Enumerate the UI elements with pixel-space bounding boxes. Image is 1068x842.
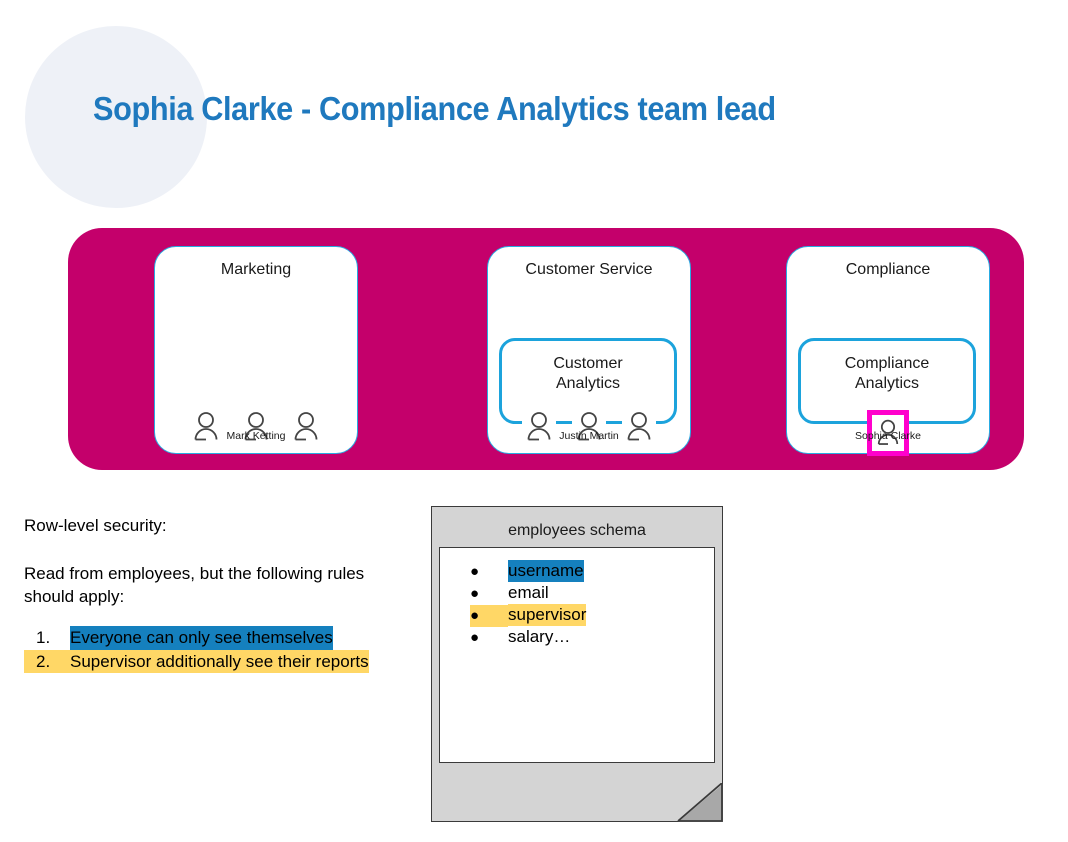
analytics-team-label: Customer Analytics bbox=[502, 354, 674, 394]
list-item: ● email bbox=[470, 582, 586, 604]
page-fold-edge-icon bbox=[677, 783, 723, 822]
employees-schema-document[interactable]: employees schema ● username ● email ● su… bbox=[431, 506, 723, 822]
department-card-compliance[interactable]: Compliance Compliance Analytics Sophia C… bbox=[786, 246, 990, 454]
schema-field-name: username bbox=[508, 560, 584, 582]
department-title: Marketing bbox=[155, 261, 357, 279]
bullet-dot-icon: ● bbox=[470, 583, 508, 605]
schema-field-name: supervisor bbox=[508, 604, 586, 626]
schema-field-name: email bbox=[508, 582, 549, 604]
department-owner-label: Mark Ketting bbox=[155, 430, 357, 442]
schema-field-name: salary… bbox=[508, 626, 570, 648]
bullet-dot-icon: ● bbox=[470, 561, 508, 583]
rule-text: Everyone can only see themselves bbox=[70, 626, 333, 650]
analytics-team-label-line2: Analytics bbox=[855, 375, 919, 392]
department-card-marketing[interactable]: Marketing bbox=[154, 246, 358, 454]
list-item: ● supervisor bbox=[470, 604, 586, 626]
department-owner-label: Justin Martin bbox=[488, 430, 690, 442]
rule-number: 2. bbox=[24, 650, 70, 674]
department-card-customer-service[interactable]: Customer Service Customer Analytics bbox=[487, 246, 691, 454]
analytics-team-label: Compliance Analytics bbox=[801, 354, 973, 394]
page-title: Sophia Clarke - Compliance Analytics tea… bbox=[93, 90, 776, 128]
analytics-team-label-line2: Analytics bbox=[556, 375, 620, 392]
department-owner-label: Sophia Clarke bbox=[787, 430, 989, 442]
department-title: Compliance bbox=[787, 261, 989, 279]
analytics-team-label-line1: Compliance bbox=[845, 355, 929, 372]
rule-text: Supervisor additionally see their report… bbox=[70, 650, 369, 674]
list-item: ● username bbox=[470, 560, 586, 582]
schema-field-list: ● username ● email ● supervisor ● salary… bbox=[470, 560, 586, 648]
row-level-security-intro: Read from employees, but the following r… bbox=[24, 562, 376, 608]
row-level-security-heading: Row-level security: bbox=[24, 516, 167, 536]
list-item: 1. Everyone can only see themselves bbox=[24, 626, 394, 650]
team-connector-line bbox=[489, 400, 689, 416]
bullet-dot-icon: ● bbox=[470, 605, 508, 627]
org-structure-panel: Marketing bbox=[68, 228, 1024, 470]
schema-title: employees schema bbox=[431, 522, 723, 540]
rule-number: 1. bbox=[24, 626, 70, 650]
row-level-security-rules-list: 1. Everyone can only see themselves 2. S… bbox=[24, 626, 394, 673]
bullet-dot-icon: ● bbox=[470, 627, 508, 649]
department-title: Customer Service bbox=[488, 261, 690, 279]
schema-field-panel: ● username ● email ● supervisor ● salary… bbox=[439, 547, 715, 763]
list-item: ● salary… bbox=[470, 626, 586, 648]
list-item: 2. Supervisor additionally see their rep… bbox=[24, 650, 394, 674]
analytics-team-label-line1: Customer bbox=[553, 355, 622, 372]
